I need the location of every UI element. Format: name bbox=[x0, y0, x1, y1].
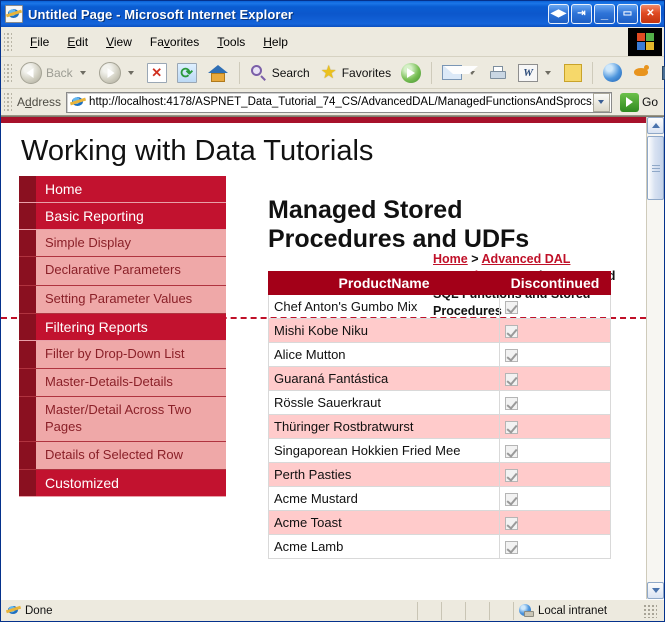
web-page: Working with Data Tutorials Home > Advan… bbox=[1, 117, 646, 599]
media-icon bbox=[401, 63, 421, 83]
go-button-label: Go bbox=[642, 95, 658, 109]
discontinued-checkbox bbox=[505, 397, 518, 410]
scrollbar-track[interactable] bbox=[647, 134, 664, 582]
local-intranet-icon bbox=[519, 604, 534, 618]
table-row: Guaraná Fantástica bbox=[269, 367, 611, 391]
cell-discontinued bbox=[500, 343, 611, 367]
discontinued-checkbox bbox=[505, 493, 518, 506]
minimize-glyph: _ bbox=[595, 5, 614, 23]
cell-productname: Perth Pasties bbox=[269, 463, 500, 487]
maximize-glyph: ▭ bbox=[618, 5, 637, 23]
discontinued-checkbox bbox=[505, 421, 518, 434]
address-label-accel: d bbox=[25, 95, 32, 109]
close-glyph: ✕ bbox=[641, 5, 660, 23]
table-row: Acme Mustard bbox=[269, 487, 611, 511]
table-row: Perth Pasties bbox=[269, 463, 611, 487]
sidebar-marker-icon bbox=[19, 257, 36, 284]
minimize-button[interactable]: _ bbox=[594, 4, 615, 24]
menu-items: File Edit View Favorites Tools Help bbox=[15, 32, 628, 52]
notes-icon bbox=[564, 64, 582, 82]
toolbar-separator-3 bbox=[592, 62, 593, 84]
sidebar-item-filtering-reports-label: Filtering Reports bbox=[36, 319, 148, 335]
sidebar-marker-icon bbox=[19, 341, 36, 368]
cell-productname: Thüringer Rostbratwurst bbox=[269, 415, 500, 439]
notes-button[interactable] bbox=[559, 62, 587, 84]
table-row: Rössle Sauerkraut bbox=[269, 391, 611, 415]
cell-productname: Guaraná Fantástica bbox=[269, 367, 500, 391]
sidebar-item-basic-reporting[interactable]: Basic Reporting bbox=[19, 203, 226, 230]
search-button-label: Search bbox=[272, 66, 310, 80]
browser-window: Untitled Page - Microsoft Internet Explo… bbox=[0, 0, 665, 622]
menu-file[interactable]: File bbox=[21, 32, 58, 52]
menu-help[interactable]: Help bbox=[254, 32, 297, 52]
sidebar-item-details-of-selected-row-label: Details of Selected Row bbox=[36, 442, 189, 469]
cell-productname: Acme Mustard bbox=[269, 487, 500, 511]
sidebar-item-home-label: Home bbox=[36, 181, 82, 197]
msn-globe-icon bbox=[603, 63, 622, 82]
page-title: Working with Data Tutorials bbox=[1, 123, 646, 174]
forward-button[interactable] bbox=[94, 60, 142, 86]
msn-button[interactable] bbox=[598, 61, 627, 84]
status-bar: Done Local intranet bbox=[1, 599, 664, 621]
toolbar-separator bbox=[239, 62, 240, 84]
address-label-post: dress bbox=[32, 95, 61, 109]
edit-chevron-down-icon[interactable] bbox=[545, 71, 551, 75]
back-button-label: Back bbox=[46, 66, 73, 80]
edit-word-icon: W bbox=[518, 64, 538, 82]
search-button[interactable]: Search bbox=[245, 62, 315, 84]
toolbar-separator-2 bbox=[431, 62, 432, 84]
sidebar-marker-icon bbox=[19, 176, 36, 202]
sidebar-item-master-detail-across-two-pages[interactable]: Master/Detail Across Two Pages bbox=[19, 397, 226, 442]
research-button[interactable] bbox=[656, 62, 665, 84]
address-input[interactable]: http://localhost:4178/ASPNET_Data_Tutori… bbox=[66, 92, 612, 113]
print-button[interactable] bbox=[483, 63, 513, 83]
page-body: Home Basic Reporting Simple Display Decl… bbox=[1, 174, 646, 559]
sidebar-item-master-detail-across-two-pages-label: Master/Detail Across Two Pages bbox=[36, 397, 226, 441]
cell-discontinued bbox=[500, 511, 611, 535]
sidebar-item-declarative-parameters-label: Declarative Parameters bbox=[36, 257, 187, 284]
menu-favorites-post: orites bbox=[170, 35, 199, 49]
sidebar-item-master-details-details-label: Master-Details-Details bbox=[36, 369, 179, 396]
cell-discontinued bbox=[500, 463, 611, 487]
security-zone-pane[interactable]: Local intranet bbox=[514, 602, 664, 620]
detach-button[interactable]: ⇥ bbox=[571, 4, 592, 24]
sidebar-marker-icon bbox=[19, 369, 36, 396]
cell-productname: Mishi Kobe Niku bbox=[269, 319, 500, 343]
status-pane-3 bbox=[466, 602, 490, 620]
status-pane-4 bbox=[490, 602, 514, 620]
cell-discontinued bbox=[500, 319, 611, 343]
menu-edit-post: dit bbox=[75, 35, 88, 49]
media-button[interactable] bbox=[396, 61, 426, 85]
stop-button[interactable] bbox=[142, 61, 172, 85]
discontinued-checkbox bbox=[505, 445, 518, 458]
sidebar-item-filtering-reports[interactable]: Filtering Reports bbox=[19, 314, 226, 341]
sidebar-item-declarative-parameters[interactable]: Declarative Parameters bbox=[19, 257, 226, 285]
cell-discontinued bbox=[500, 367, 611, 391]
menu-view-post: iew bbox=[114, 35, 132, 49]
back-arrow-icon bbox=[20, 62, 42, 84]
sidebar-item-customized-label: Customized bbox=[36, 475, 119, 491]
cell-discontinued bbox=[500, 391, 611, 415]
sidebar-item-setting-parameter-values[interactable]: Setting Parameter Values bbox=[19, 286, 226, 314]
sidebar-item-setting-parameter-values-label: Setting Parameter Values bbox=[36, 286, 198, 313]
resize-grip[interactable] bbox=[643, 604, 657, 618]
refresh-button[interactable] bbox=[172, 61, 202, 85]
column-header-discontinued[interactable]: Discontinued bbox=[500, 272, 611, 295]
sidebar-marker-icon bbox=[19, 203, 36, 229]
go-arrow-icon bbox=[620, 93, 639, 112]
menu-bar: File Edit View Favorites Tools Help bbox=[1, 27, 664, 57]
back-button[interactable]: Back bbox=[15, 60, 94, 86]
table-row: Acme Lamb bbox=[269, 535, 611, 559]
sidebar-marker-icon bbox=[19, 442, 36, 469]
scroll-up-button[interactable] bbox=[647, 117, 664, 134]
page-status-icon bbox=[6, 603, 21, 618]
sidebar-item-simple-display-label: Simple Display bbox=[36, 230, 137, 256]
discontinued-checkbox bbox=[505, 541, 518, 554]
favorites-button-label: Favorites bbox=[342, 66, 391, 80]
research-icon bbox=[661, 64, 665, 82]
cell-discontinued bbox=[500, 295, 611, 319]
sidebar-marker-icon bbox=[19, 470, 36, 496]
toolbar-grip-handle[interactable] bbox=[4, 63, 12, 83]
status-text: Done bbox=[25, 605, 53, 617]
restore-group-button[interactable]: ◀▶ bbox=[548, 4, 569, 24]
menu-favorites[interactable]: Favorites bbox=[141, 32, 208, 52]
window-title: Untitled Page - Microsoft Internet Explo… bbox=[28, 7, 548, 22]
main-toolbar: Back Search ★ Favorites W bbox=[1, 57, 664, 89]
sidebar-marker-icon bbox=[19, 397, 36, 441]
forward-history-chevron-down-icon[interactable] bbox=[128, 71, 134, 75]
stop-icon bbox=[147, 63, 167, 83]
cell-productname: Acme Lamb bbox=[269, 535, 500, 559]
menu-favorites-pre: Fa bbox=[150, 35, 164, 49]
title-bar: Untitled Page - Microsoft Internet Explo… bbox=[1, 1, 664, 27]
cell-productname: Singaporean Hokkien Fried Mee bbox=[269, 439, 500, 463]
detach-glyph: ⇥ bbox=[572, 5, 591, 23]
discontinued-checkbox bbox=[505, 325, 518, 338]
sidebar-nav: Home Basic Reporting Simple Display Decl… bbox=[19, 176, 226, 559]
status-pane-1 bbox=[418, 602, 442, 620]
vertical-scrollbar[interactable] bbox=[646, 117, 664, 599]
content-heading: Managed Stored Procedures and UDFs bbox=[268, 196, 558, 253]
page-icon bbox=[70, 94, 86, 110]
products-grid-body: Chef Anton's Gumbo Mix Mishi Kobe Niku A… bbox=[269, 295, 611, 559]
home-icon bbox=[207, 63, 229, 83]
menu-file-post: ile bbox=[37, 35, 49, 49]
discontinued-checkbox bbox=[505, 301, 518, 314]
sidebar-marker-icon bbox=[19, 314, 36, 340]
discontinued-checkbox bbox=[505, 469, 518, 482]
scrollbar-thumb[interactable] bbox=[647, 136, 664, 200]
forward-arrow-icon bbox=[99, 62, 121, 84]
address-chevron-down-icon[interactable] bbox=[593, 93, 610, 112]
cell-discontinued bbox=[500, 535, 611, 559]
menu-edit[interactable]: Edit bbox=[58, 32, 97, 52]
menu-help-accel: H bbox=[263, 35, 272, 49]
table-row: Thüringer Rostbratwurst bbox=[269, 415, 611, 439]
products-grid: ProductName Discontinued Chef Anton's Gu… bbox=[268, 271, 611, 559]
window-controls: ◀▶ ⇥ _ ▭ ✕ bbox=[548, 4, 661, 24]
windows-flag-logo bbox=[628, 28, 662, 56]
table-row: Chef Anton's Gumbo Mix bbox=[269, 295, 611, 319]
go-button[interactable]: Go bbox=[616, 92, 662, 113]
menu-tools-post: ools bbox=[223, 35, 245, 49]
sidebar-item-basic-reporting-label: Basic Reporting bbox=[36, 208, 144, 224]
discontinued-checkbox bbox=[505, 349, 518, 362]
favorites-star-icon: ★ bbox=[320, 64, 338, 82]
msn-butterfly-icon bbox=[632, 64, 651, 81]
column-header-productname[interactable]: ProductName bbox=[269, 272, 500, 295]
table-row: Acme Toast bbox=[269, 511, 611, 535]
table-row: Alice Mutton bbox=[269, 343, 611, 367]
cell-discontinued bbox=[500, 439, 611, 463]
table-row: Singaporean Hokkien Fried Mee bbox=[269, 439, 611, 463]
sidebar-item-customized[interactable]: Customized bbox=[19, 470, 226, 497]
discontinued-checkbox bbox=[505, 517, 518, 530]
sidebar-item-filter-by-dropdown-list[interactable]: Filter by Drop-Down List bbox=[19, 341, 226, 369]
sidebar-item-details-of-selected-row[interactable]: Details of Selected Row bbox=[19, 442, 226, 470]
cell-discontinued bbox=[500, 487, 611, 511]
edit-button[interactable]: W bbox=[513, 62, 559, 84]
products-grid-header-row: ProductName Discontinued bbox=[269, 272, 611, 295]
security-zone-text: Local intranet bbox=[538, 605, 607, 617]
sidebar-marker-icon bbox=[19, 286, 36, 313]
refresh-icon bbox=[177, 63, 197, 83]
close-button[interactable]: ✕ bbox=[640, 4, 661, 24]
sidebar-item-master-details-details[interactable]: Master-Details-Details bbox=[19, 369, 226, 397]
sidebar-item-simple-display[interactable]: Simple Display bbox=[19, 230, 226, 257]
favorites-button[interactable]: ★ Favorites bbox=[315, 62, 396, 84]
search-magnifier-icon bbox=[250, 64, 268, 82]
address-url-text: http://localhost:4178/ASPNET_Data_Tutori… bbox=[89, 96, 593, 108]
back-history-chevron-down-icon[interactable] bbox=[80, 71, 86, 75]
maximize-button[interactable]: ▭ bbox=[617, 4, 638, 24]
menu-view[interactable]: View bbox=[97, 32, 141, 52]
menu-grip-handle[interactable] bbox=[4, 32, 12, 52]
cell-discontinued bbox=[500, 415, 611, 439]
restore-group-glyph: ◀▶ bbox=[549, 5, 568, 23]
cell-productname: Alice Mutton bbox=[269, 343, 500, 367]
discontinued-checkbox bbox=[505, 373, 518, 386]
print-icon bbox=[488, 65, 508, 81]
scroll-down-button[interactable] bbox=[647, 582, 664, 599]
status-pane-2 bbox=[442, 602, 466, 620]
sidebar-marker-icon bbox=[19, 230, 36, 256]
msn-butterfly-button[interactable] bbox=[627, 62, 656, 83]
cell-productname: Acme Toast bbox=[269, 511, 500, 535]
products-grid-head: ProductName Discontinued bbox=[269, 272, 611, 295]
cell-productname: Chef Anton's Gumbo Mix bbox=[269, 295, 500, 319]
address-grip-handle[interactable] bbox=[4, 92, 12, 112]
mail-icon bbox=[442, 65, 462, 80]
sidebar-item-filter-by-dropdown-list-label: Filter by Drop-Down List bbox=[36, 341, 190, 368]
main-content: Managed Stored Procedures and UDFs Produ… bbox=[226, 174, 646, 559]
sidebar-item-home[interactable]: Home bbox=[19, 176, 226, 203]
address-label-pre: A bbox=[17, 95, 25, 109]
ie-page-icon bbox=[5, 5, 23, 23]
mail-button[interactable] bbox=[437, 63, 483, 82]
menu-help-post: elp bbox=[272, 35, 288, 49]
address-label: Address bbox=[17, 95, 61, 109]
table-row: Mishi Kobe Niku bbox=[269, 319, 611, 343]
page-viewport: Working with Data Tutorials Home > Advan… bbox=[1, 116, 664, 599]
address-bar: Address http://localhost:4178/ASPNET_Dat… bbox=[1, 89, 664, 116]
home-button[interactable] bbox=[202, 61, 234, 85]
menu-view-accel: V bbox=[106, 35, 114, 49]
status-message-pane: Done bbox=[1, 602, 418, 620]
menu-tools[interactable]: Tools bbox=[208, 32, 254, 52]
cell-productname: Rössle Sauerkraut bbox=[269, 391, 500, 415]
